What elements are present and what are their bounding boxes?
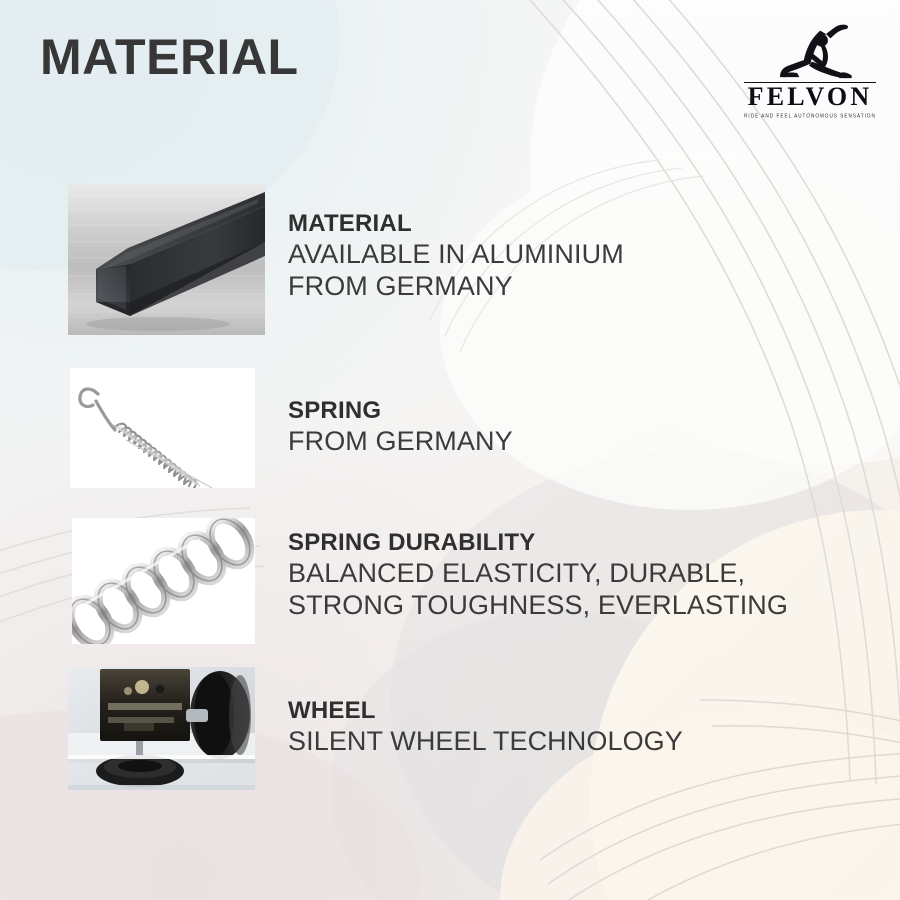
feature-text-material: MATERIAL AVAILABLE IN ALUMINIUM FROM GER… bbox=[288, 210, 624, 303]
feature-thumbnail-material bbox=[68, 184, 265, 335]
feature-thumbnail-spring bbox=[70, 368, 255, 488]
feature-text-spring: SPRING FROM GERMANY bbox=[288, 397, 513, 458]
feature-thumbnail-spring-durability bbox=[72, 518, 255, 644]
feature-line: STRONG TOUGHNESS, EVERLASTING bbox=[288, 590, 788, 622]
feature-row-spring bbox=[70, 368, 255, 488]
feature-description: BALANCED ELASTICITY, DURABLE, STRONG TOU… bbox=[288, 558, 788, 622]
feature-heading: SPRING DURABILITY bbox=[288, 529, 788, 557]
feature-heading: WHEEL bbox=[288, 697, 683, 725]
feature-line: AVAILABLE IN ALUMINIUM bbox=[288, 239, 624, 271]
feature-line: FROM GERMANY bbox=[288, 426, 513, 458]
feature-row-wheel bbox=[68, 667, 255, 790]
feature-list: MATERIAL AVAILABLE IN ALUMINIUM FROM GER… bbox=[0, 0, 900, 900]
feature-row-spring-durability bbox=[72, 518, 255, 644]
feature-heading: MATERIAL bbox=[288, 210, 624, 238]
feature-text-spring-durability: SPRING DURABILITY BALANCED ELASTICITY, D… bbox=[288, 529, 788, 622]
feature-heading: SPRING bbox=[288, 397, 513, 425]
slide-canvas: MATERIAL bbox=[0, 0, 900, 900]
feature-text-wheel: WHEEL SILENT WHEEL TECHNOLOGY bbox=[288, 697, 683, 758]
feature-line: BALANCED ELASTICITY, DURABLE, bbox=[288, 558, 788, 590]
feature-thumbnail-wheel bbox=[68, 667, 255, 790]
feature-row-material bbox=[68, 184, 265, 335]
feature-description: FROM GERMANY bbox=[288, 426, 513, 458]
feature-description: SILENT WHEEL TECHNOLOGY bbox=[288, 726, 683, 758]
feature-description: AVAILABLE IN ALUMINIUM FROM GERMANY bbox=[288, 239, 624, 303]
feature-line: FROM GERMANY bbox=[288, 271, 624, 303]
feature-line: SILENT WHEEL TECHNOLOGY bbox=[288, 726, 683, 758]
